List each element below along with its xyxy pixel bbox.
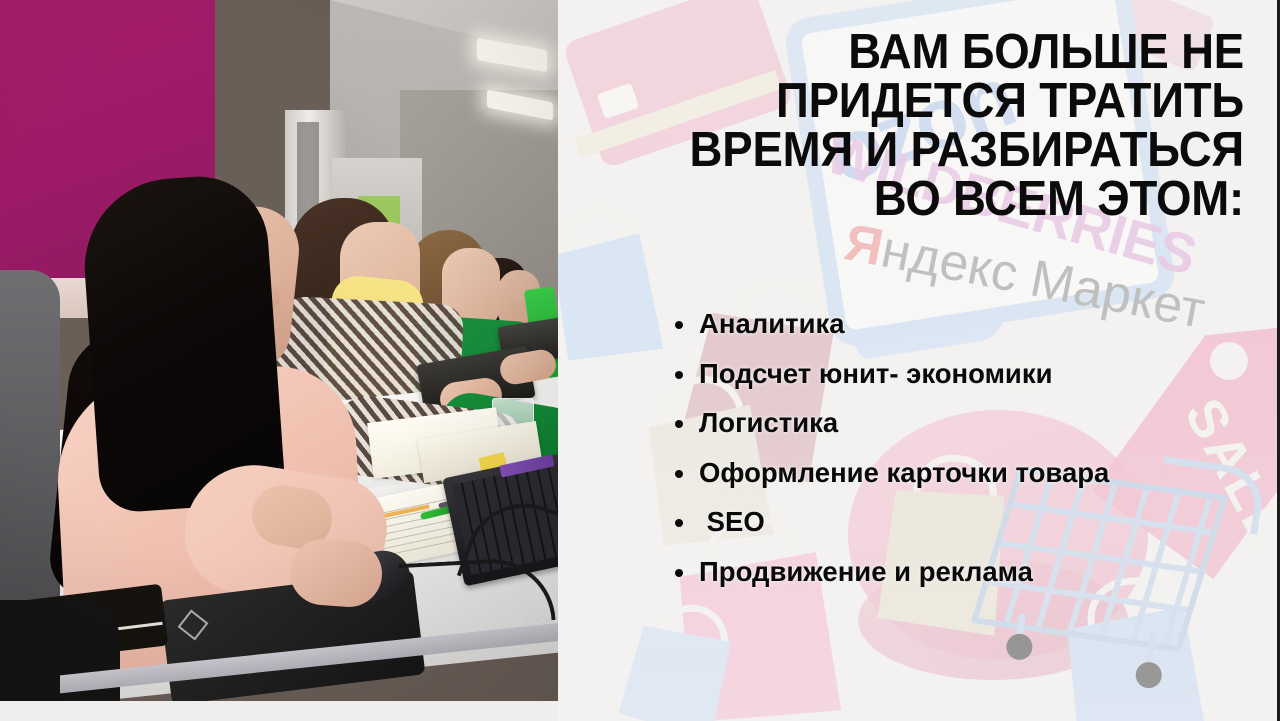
list-item: Оформление карточки товара	[672, 459, 1252, 487]
list-item: Аналитика	[672, 310, 1252, 338]
list-item: Подсчет юнит- экономики	[672, 360, 1252, 388]
feature-list: Аналитика Подсчет юнит- экономики Логист…	[672, 310, 1252, 607]
slide-root: ucc ozon WILDBERRIES Яндекс Маркет SALE	[0, 0, 1280, 721]
photo-bottom-strip	[0, 701, 558, 721]
office-photo: ucc	[0, 0, 558, 701]
list-item: Продвижение и реклама	[672, 558, 1252, 586]
page-title: ВАМ БОЛЬШЕ НЕ ПРИДЕТСЯ ТРАТИТЬ ВРЕМЯ И Р…	[662, 28, 1244, 224]
list-item: SEO	[672, 508, 1252, 536]
list-item: Логистика	[672, 409, 1252, 437]
photo-vignette	[0, 0, 558, 701]
